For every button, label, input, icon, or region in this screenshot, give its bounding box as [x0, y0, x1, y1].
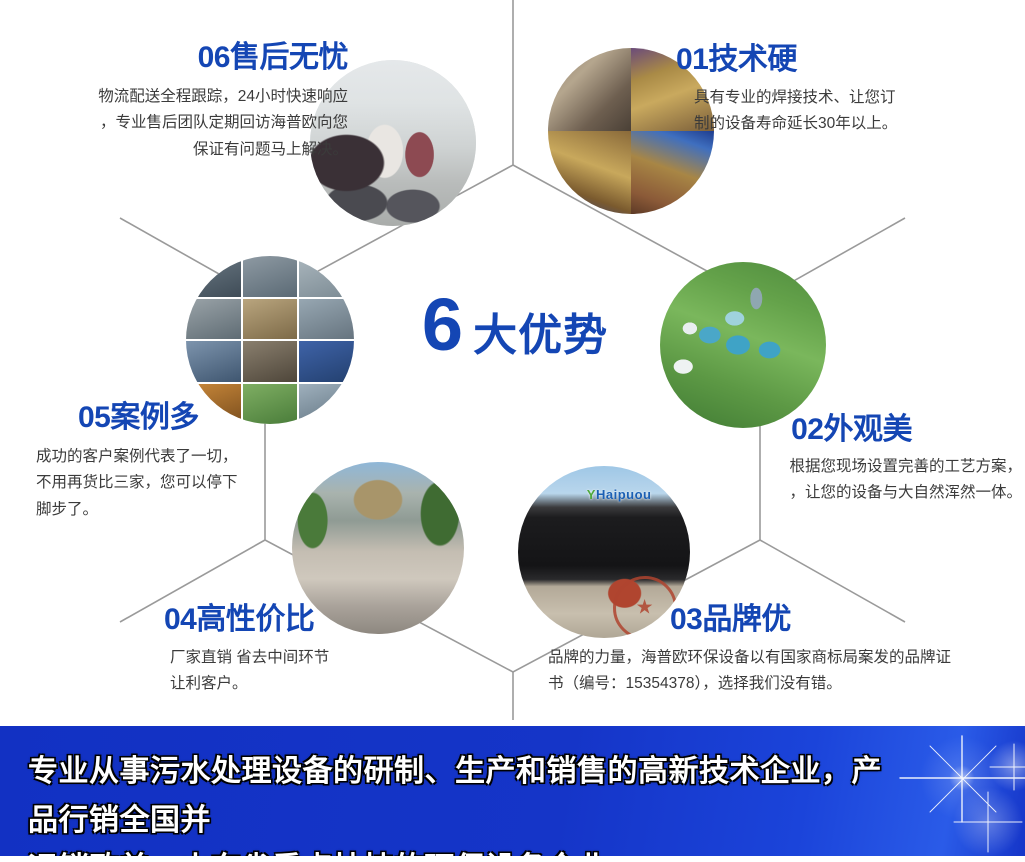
advantage-04-text: 04高性价比 厂家直销 省去中间环节 让利客户。 [130, 604, 430, 698]
collage-tile-6 [299, 299, 354, 340]
advantage-02-desc: 根据您现场设置完善的工艺方案， ，让您的设备与大自然浑然一体。 [700, 454, 1022, 507]
haipuou-logo: YHaipuou [587, 487, 652, 502]
advantage-05-desc: 成功的客户案例代表了一切， 不用再货比三家，您可以停下 脚步了。 [36, 444, 326, 524]
advantage-04-desc: 厂家直销 省去中间环节 让利客户。 [130, 645, 430, 698]
advantage-03-desc: 品牌的力量，海普欧环保设备以有国家商标局案发的品牌证 书（编号：15354378… [548, 645, 1018, 698]
infographic-root: 06售后无忧 物流配送全程跟踪，24小时快速响应 ，专业售后团队定期回访海普欧向… [0, 0, 1025, 862]
advantage-05-text: 05案例多 成功的客户案例代表了一切， 不用再货比三家，您可以停下 脚步了。 [36, 402, 326, 523]
advantage-02-text: 02外观美 根据您现场设置完善的工艺方案， ，让您的设备与大自然浑然一体。 [700, 414, 1022, 507]
bottom-banner: 专业从事污水处理设备的研制、生产和销售的高新技术企业，产品行销全国并 远销欧美，… [0, 726, 1025, 856]
aerial-treatment-plant-photo [660, 262, 826, 428]
advantage-03-text: 03品牌优 品牌的力量，海普欧环保设备以有国家商标局案发的品牌证 书（编号：15… [548, 604, 1018, 698]
banner-line-1: 专业从事污水处理设备的研制、生产和销售的高新技术企业，产品行销全国并 [28, 748, 898, 845]
haipuou-logo-mark: Y [587, 487, 596, 502]
advantage-05-image [186, 256, 354, 424]
advantage-04-heading: 04高性价比 [130, 604, 430, 636]
advantage-06-desc: 物流配送全程跟踪，24小时快速响应 ，专业售后团队定期回访海普欧向您 保证有问题… [18, 84, 348, 164]
advantage-02-image [660, 262, 826, 428]
advantage-01-heading: 01技术硬 [676, 44, 1016, 76]
center-number: 6 [422, 288, 463, 362]
center-headline: 6 大优势 [400, 288, 630, 374]
advantage-01-desc: 具有专业的焊接技术、让您订 制的设备寿命延长30年以上。 [676, 85, 1016, 138]
center-label: 大优势 [473, 299, 608, 363]
advantage-06-text: 06售后无忧 物流配送全程跟踪，24小时快速响应 ，专业售后团队定期回访海普欧向… [18, 42, 348, 163]
banner-line-2: 远销欧美，山东省重点扶持的环保设备企业。 [28, 845, 898, 856]
collage-tile-4 [186, 299, 241, 340]
banner-text: 专业从事污水处理设备的研制、生产和销售的高新技术企业，产品行销全国并 远销欧美，… [28, 748, 898, 856]
case-collage-photo [186, 256, 354, 424]
collage-tile-2 [243, 256, 298, 297]
advantage-06-heading: 06售后无忧 [18, 42, 348, 74]
collage-tile-8 [243, 341, 298, 382]
collage-tile-5 [243, 299, 298, 340]
advantage-01-text: 01技术硬 具有专业的焊接技术、让您订 制的设备寿命延长30年以上。 [676, 44, 1016, 138]
collage-tile-9 [299, 341, 354, 382]
collage-tile-7 [186, 341, 241, 382]
advantage-03-heading: 03品牌优 [548, 604, 1018, 636]
advantage-05-heading: 05案例多 [36, 402, 326, 434]
advantage-02-heading: 02外观美 [700, 414, 1022, 446]
